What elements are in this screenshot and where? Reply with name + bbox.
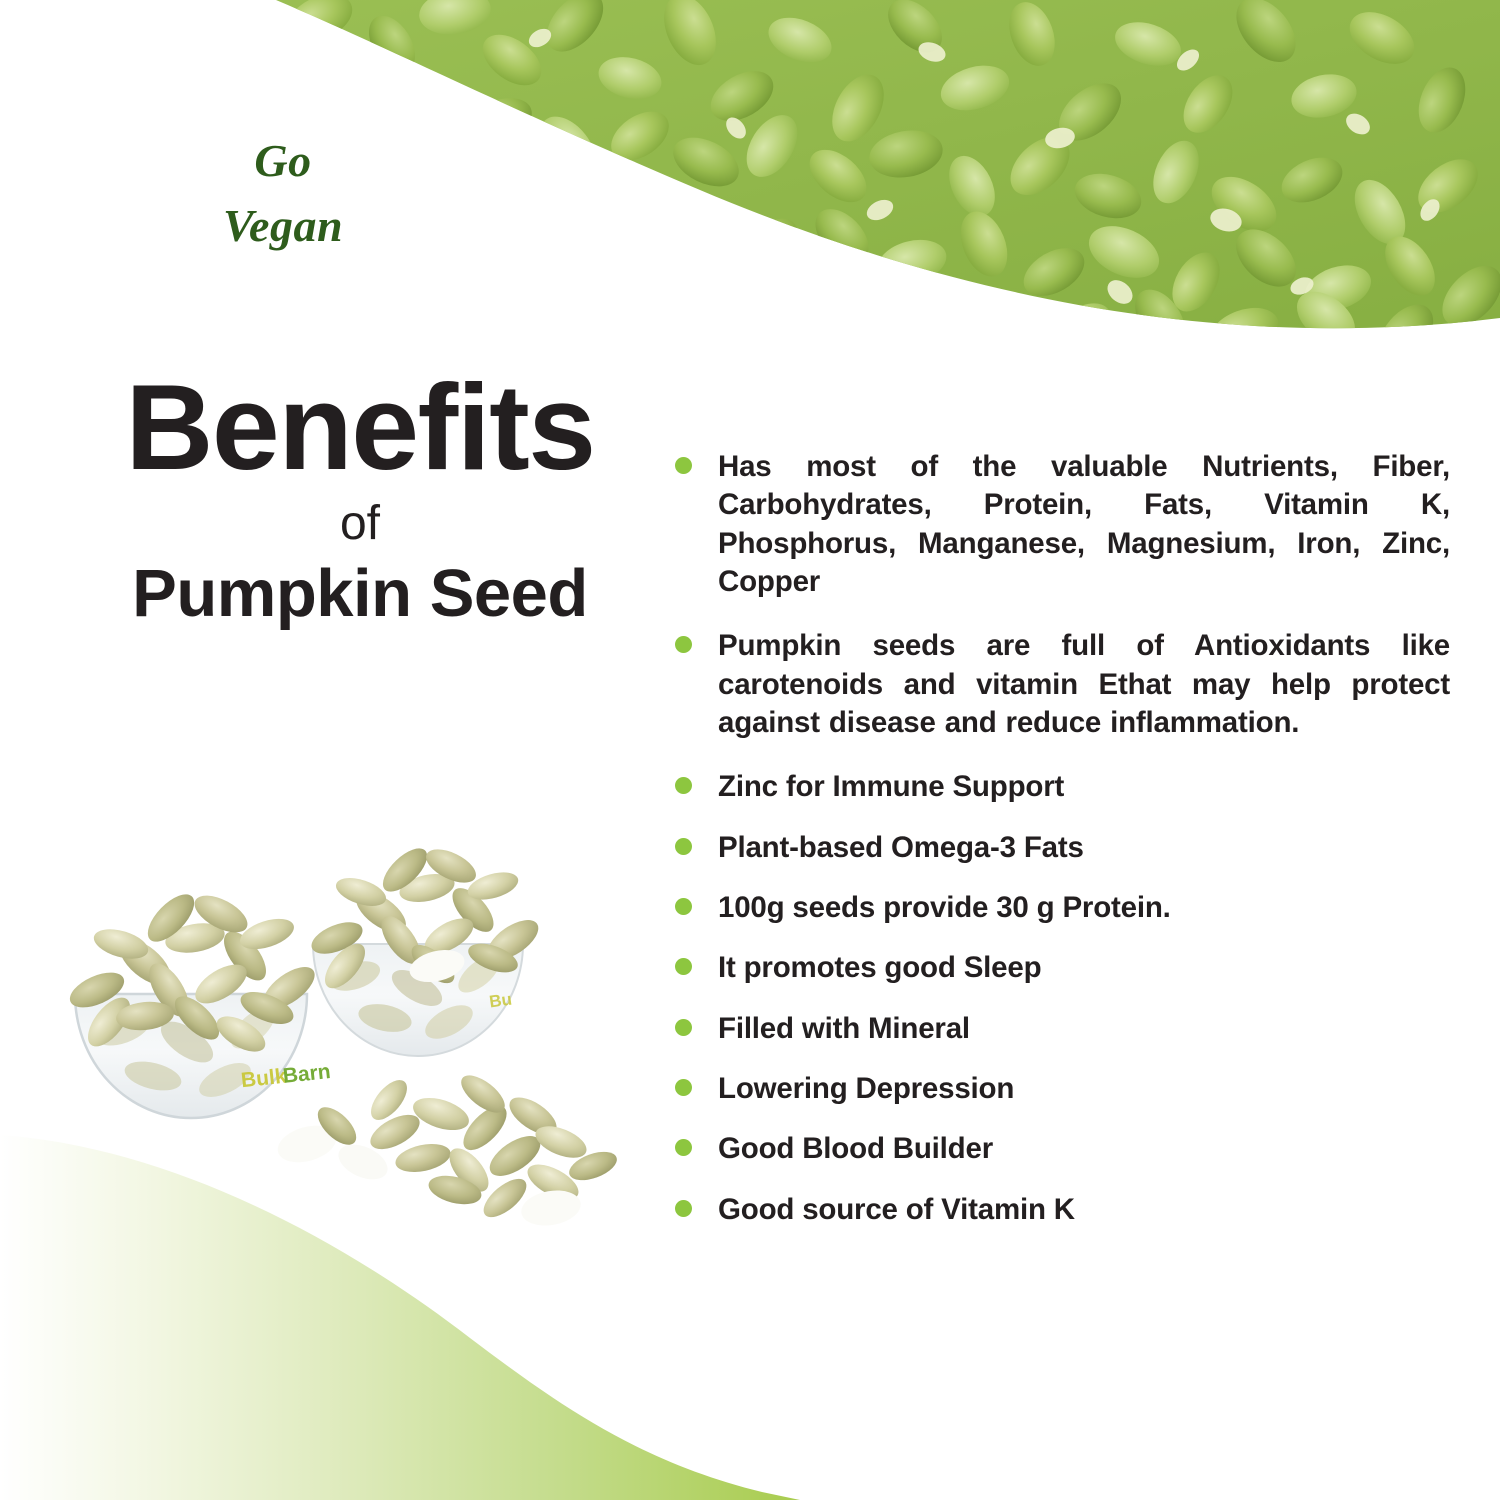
brand-text-bulk: Bulk: [240, 1065, 288, 1093]
list-item: Good Blood Builder: [675, 1130, 1450, 1168]
list-item: Filled with Mineral: [675, 1010, 1450, 1048]
list-item: Pumpkin seeds are full of Antioxidants l…: [675, 627, 1450, 742]
bullet-dot-icon: [675, 457, 692, 474]
list-item: Zinc for Immune Support: [675, 768, 1450, 806]
bullet-dot-icon: [675, 898, 692, 915]
infographic-poster: Go Vegan Benefits of Pumpkin Seed: [0, 0, 1500, 1500]
benefit-text: Good Blood Builder: [718, 1130, 1450, 1168]
go-vegan-tagline: Go Vegan: [168, 128, 398, 259]
list-item: Has most of the valuable Nutrients, Fibe…: [675, 448, 1450, 601]
brand-label-back: Bu: [488, 990, 513, 1012]
benefit-text: 100g seeds provide 30 g Protein.: [718, 889, 1450, 927]
bullet-dot-icon: [675, 636, 692, 653]
benefit-text: Filled with Mineral: [718, 1010, 1450, 1048]
benefit-text: It promotes good Sleep: [718, 949, 1450, 987]
title-main: Benefits: [60, 368, 660, 488]
svg-text:Bu: Bu: [488, 990, 513, 1012]
title-subject: Pumpkin Seed: [60, 556, 660, 631]
list-item: Lowering Depression: [675, 1070, 1450, 1108]
list-item: 100g seeds provide 30 g Protein.: [675, 889, 1450, 927]
title-connector: of: [60, 494, 660, 554]
tagline-line-1: Go: [168, 128, 398, 193]
bullet-dot-icon: [675, 1019, 692, 1036]
bullet-dot-icon: [675, 838, 692, 855]
bullet-dot-icon: [675, 1079, 692, 1096]
bullet-dot-icon: [675, 958, 692, 975]
bullet-dot-icon: [675, 1139, 692, 1156]
benefit-text: Has most of the valuable Nutrients, Fibe…: [718, 448, 1450, 601]
benefit-text: Good source of Vitamin K: [718, 1191, 1450, 1229]
benefit-text: Zinc for Immune Support: [718, 768, 1450, 806]
benefits-list: Has most of the valuable Nutrients, Fibe…: [675, 448, 1450, 1251]
list-item: Plant-based Omega-3 Fats: [675, 829, 1450, 867]
list-item: It promotes good Sleep: [675, 949, 1450, 987]
list-item: Good source of Vitamin K: [675, 1191, 1450, 1229]
benefit-text: Plant-based Omega-3 Fats: [718, 829, 1450, 867]
page-title: Benefits of Pumpkin Seed: [60, 368, 660, 631]
benefit-text: Lowering Depression: [718, 1070, 1450, 1108]
bullet-dot-icon: [675, 1200, 692, 1217]
bullet-dot-icon: [675, 777, 692, 794]
product-bowls-photo: Bu: [45, 826, 670, 1226]
benefit-text: Pumpkin seeds are full of Antioxidants l…: [718, 627, 1450, 742]
tagline-line-2: Vegan: [168, 193, 398, 258]
